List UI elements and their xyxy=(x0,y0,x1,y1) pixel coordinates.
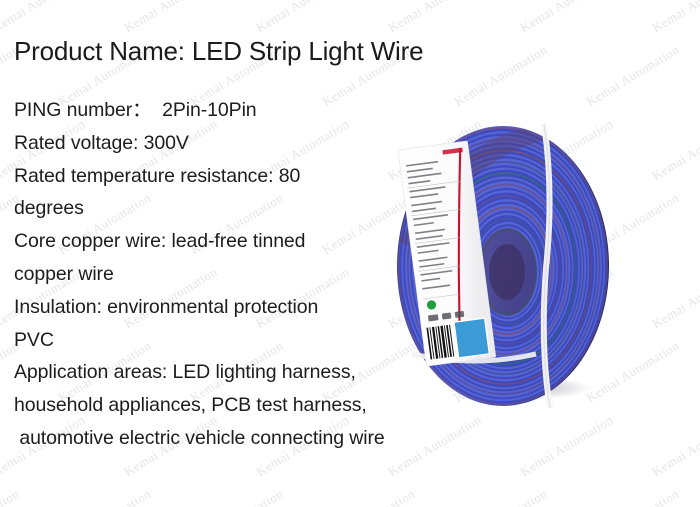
watermark-text: Kemai Automation xyxy=(583,42,682,110)
spec-line: Rated voltage: 300V xyxy=(14,127,484,160)
page-title: Product Name: LED Strip Light Wire xyxy=(14,34,484,68)
spec-line: automotive electric vehicle connecting w… xyxy=(14,422,484,455)
watermark-text: Kemai Automation xyxy=(253,0,352,36)
watermark-text: Kemai Automation xyxy=(385,0,484,36)
spec-line: degrees xyxy=(14,192,484,225)
spec-line: PVC xyxy=(14,324,484,357)
product-image-canvas: Kemai AutomationKemai AutomationKemai Au… xyxy=(0,0,700,507)
spec-line: Insulation: environmental protection xyxy=(14,291,484,324)
spec-line: Core copper wire: lead-free tinned xyxy=(14,225,484,258)
product-text-block: Product Name: LED Strip Light Wire PING … xyxy=(14,34,484,455)
watermark-text: Kemai Automation xyxy=(121,0,220,36)
spec-line: household appliances, PCB test harness, xyxy=(14,389,484,422)
watermark-text: Kemai Automation xyxy=(0,0,88,36)
spec-line: Application areas: LED lighting harness, xyxy=(14,356,484,389)
spec-line: PING number： 2Pin-10Pin xyxy=(14,94,484,127)
watermark-text: Kemai Automation xyxy=(649,412,700,480)
spec-list: PING number： 2Pin-10PinRated voltage: 30… xyxy=(14,94,484,455)
watermark-text: Kemai Automation xyxy=(517,412,616,480)
watermark-text: Kemai Automation xyxy=(649,116,700,184)
watermark-text: Kemai Automation xyxy=(517,0,616,36)
watermark-text: Kemai Automation xyxy=(583,486,682,507)
spec-line: copper wire xyxy=(14,258,484,291)
watermark-text: Kemai Automation xyxy=(649,0,700,36)
watermark-text: Kemai Automation xyxy=(649,264,700,332)
spec-line: Rated temperature resistance: 80 xyxy=(14,160,484,193)
watermark-text: Kemai Automation xyxy=(0,486,22,507)
watermark-text: Kemai Automation xyxy=(319,486,418,507)
watermark-text: Kemai Automation xyxy=(451,486,550,507)
watermark-text: Kemai Automation xyxy=(55,486,154,507)
watermark-text: Kemai Automation xyxy=(187,486,286,507)
